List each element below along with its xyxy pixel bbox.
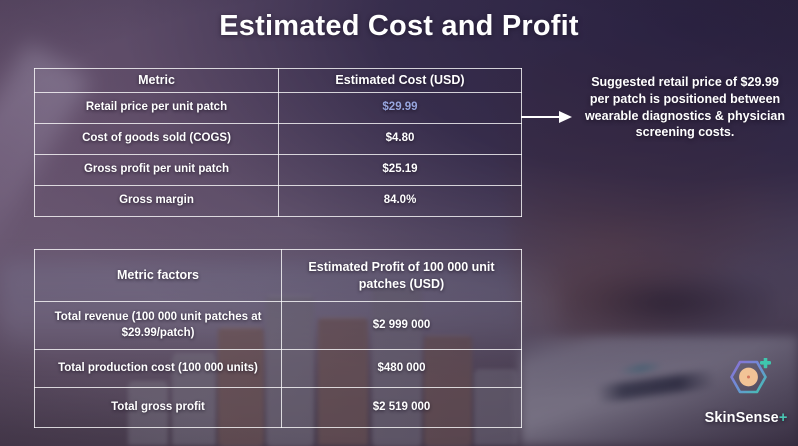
table-row: Total revenue (100 000 unit patches at $… [35,302,522,350]
cell-metric: Cost of goods sold (COGS) [35,123,279,154]
slide-canvas: Estimated Cost and Profit Metric Estimat… [0,0,798,446]
cell-value: $4.80 [279,123,522,154]
estimated-profit-table: Metric factors Estimated Profit of 100 0… [34,249,522,428]
cell-metric: Gross profit per unit patch [35,154,279,185]
column-header-profit: Estimated Profit of 100 000 unit patches… [282,250,522,302]
callout-text: Suggested retail price of $29.99 per pat… [580,74,790,141]
brand-plus: + [779,410,788,426]
cell-value: $2 999 000 [282,302,522,350]
brand-name: SkinSense [705,410,779,426]
page-title: Estimated Cost and Profit [0,10,798,43]
cell-value: $25.19 [279,154,522,185]
table-row: Cost of goods sold (COGS) $4.80 [35,123,522,154]
column-header-metric-factors: Metric factors [35,250,282,302]
skinsense-hexagon-logo-icon [718,358,774,408]
brand-wordmark: SkinSense+ [700,410,792,426]
table-row: Total gross profit $2 519 000 [35,388,522,428]
table-header-row: Metric factors Estimated Profit of 100 0… [35,250,522,302]
table-header-row: Metric Estimated Cost (USD) [35,69,522,93]
brand-logo: SkinSense+ [700,358,792,436]
cell-metric: Retail price per unit patch [35,92,279,123]
cell-metric: Total production cost (100 000 units) [35,350,282,388]
callout-arrow-icon [521,111,573,123]
cell-value: $29.99 [279,92,522,123]
cell-value: 84.0% [279,185,522,216]
cell-value: $480 000 [282,350,522,388]
column-header-cost: Estimated Cost (USD) [279,69,522,93]
table-row: Retail price per unit patch $29.99 [35,92,522,123]
cell-metric: Total gross profit [35,388,282,428]
column-header-metric: Metric [35,69,279,93]
table-row: Gross margin 84.0% [35,185,522,216]
table-row: Total production cost (100 000 units) $4… [35,350,522,388]
cell-metric: Total revenue (100 000 unit patches at $… [35,302,282,350]
cell-value: $2 519 000 [282,388,522,428]
cell-metric: Gross margin [35,185,279,216]
estimated-cost-table: Metric Estimated Cost (USD) Retail price… [34,68,522,217]
table-row: Gross profit per unit patch $25.19 [35,154,522,185]
